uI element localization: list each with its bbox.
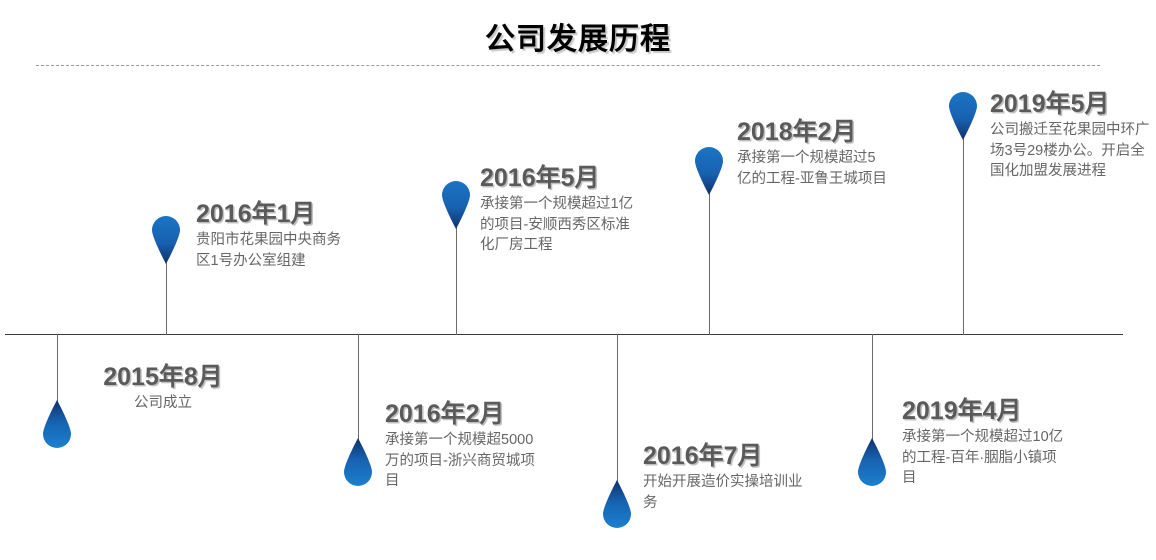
timeline-axis <box>5 334 1123 335</box>
title-divider <box>36 65 1100 66</box>
milestone-text: 2016年5月 承接第一个规模超过1亿的项目-安顺西秀区标准化厂房工程 <box>480 164 636 256</box>
connector-line <box>872 334 873 444</box>
teardrop-pin-icon <box>855 438 889 488</box>
milestone-text: 2019年4月 承接第一个规模超过10亿的工程-百年·胭脂小镇项目 <box>902 397 1067 489</box>
milestone-date: 2016年1月 <box>196 200 346 228</box>
milestone-text: 2019年5月 公司搬迁至花果园中环广场3号29楼办公。开启全国化加盟发展进程 <box>990 90 1150 182</box>
milestone-date: 2018年2月 <box>737 118 887 146</box>
connector-line <box>617 334 618 486</box>
timeline-infographic: 公司发展历程 2016年1月 贵阳市花果园中央商务区1号办公室组建 <box>0 0 1156 560</box>
milestone-desc: 承接第一个规模超过5亿的工程-亚鲁王城项目 <box>737 148 887 189</box>
milestone-text: 2018年2月 承接第一个规模超过5亿的工程-亚鲁王城项目 <box>737 118 887 189</box>
teardrop-pin-icon <box>341 438 375 488</box>
teardrop-pin-icon <box>40 400 74 450</box>
connector-line <box>456 227 457 335</box>
milestone-date: 2016年2月 <box>385 400 545 428</box>
connector-line <box>57 334 58 406</box>
milestone-desc: 承接第一个规模超5000万的项目-浙兴商贸城项目 <box>385 430 545 492</box>
map-pin-icon <box>149 214 183 264</box>
milestone-text: 2016年7月 开始开展造价实操培训业务 <box>643 442 808 513</box>
connector-line <box>166 262 167 335</box>
milestone-desc: 公司搬迁至花果园中环广场3号29楼办公。开启全国化加盟发展进程 <box>990 120 1150 182</box>
milestone-desc: 公司成立 <box>75 393 251 414</box>
map-pin-icon <box>946 90 980 140</box>
milestone-date: 2019年5月 <box>990 90 1150 118</box>
milestone-desc: 贵阳市花果园中央商务区1号办公室组建 <box>196 230 346 271</box>
milestone-text: 2016年2月 承接第一个规模超5000万的项目-浙兴商贸城项目 <box>385 400 545 492</box>
milestone-date: 2016年5月 <box>480 164 636 192</box>
map-pin-icon <box>692 145 726 195</box>
milestone-text: 2016年1月 贵阳市花果园中央商务区1号办公室组建 <box>196 200 346 271</box>
milestone-desc: 承接第一个规模超过10亿的工程-百年·胭脂小镇项目 <box>902 427 1067 489</box>
teardrop-pin-icon <box>600 480 634 530</box>
milestone-date: 2016年7月 <box>643 442 808 470</box>
map-pin-icon <box>439 179 473 229</box>
milestone-desc: 承接第一个规模超过1亿的项目-安顺西秀区标准化厂房工程 <box>480 194 636 256</box>
page-title: 公司发展历程 <box>0 14 1156 58</box>
milestone-date: 2015年8月 <box>75 363 251 391</box>
milestone-desc: 开始开展造价实操培训业务 <box>643 472 808 513</box>
milestone-date: 2019年4月 <box>902 397 1067 425</box>
connector-line <box>358 334 359 444</box>
connector-line <box>709 193 710 335</box>
milestone-text: 2015年8月 公司成立 <box>75 363 251 414</box>
connector-line <box>963 138 964 335</box>
